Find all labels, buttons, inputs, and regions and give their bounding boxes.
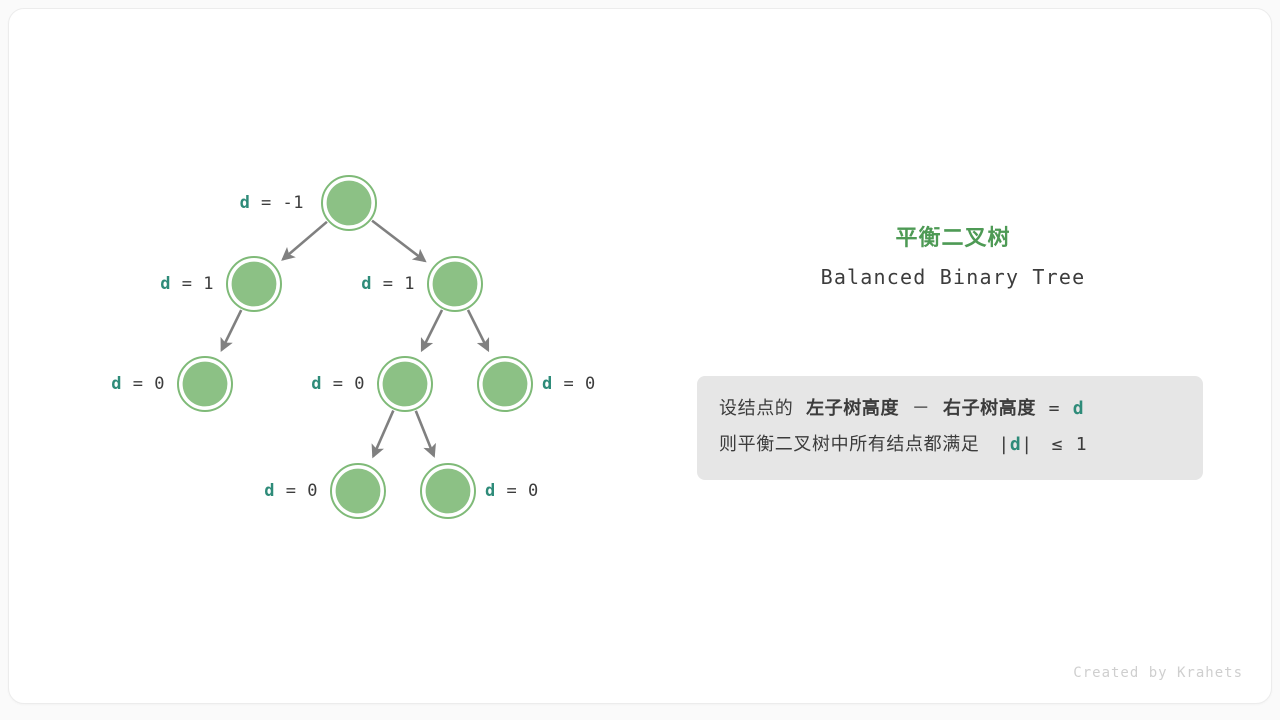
tree-edge (373, 411, 393, 457)
node-label-value: = 1 (171, 274, 214, 294)
node-balance-label: d = 0 (264, 481, 318, 501)
tree-node (478, 357, 532, 411)
definition-l2-bar-left: | (998, 434, 1009, 455)
node-label-d: d (311, 374, 322, 394)
watermark: Created by Krahets (1073, 665, 1243, 681)
node-balance-label: d = 1 (361, 274, 415, 294)
node-label-value: = 0 (496, 481, 539, 501)
node-balance-label: d = 0 (485, 481, 539, 501)
definition-l1-d: d (1073, 398, 1084, 419)
tree-node (378, 357, 432, 411)
definition-line-1: 设结点的 左子树高度 － 右子树高度 = d (719, 392, 1181, 426)
tree-nodes (178, 176, 532, 518)
definition-l1-minus: － (912, 398, 931, 419)
tree-edge (416, 411, 434, 456)
node-label-d: d (240, 193, 251, 213)
info-panel: 平衡二叉树 Balanced Binary Tree 设结点的 左子树高度 － … (697, 224, 1209, 292)
node-label-d: d (361, 274, 372, 294)
node-label-d: d (485, 481, 496, 501)
binary-tree-graphic (9, 9, 1272, 704)
definition-l2-leq: ≤ (1052, 434, 1063, 455)
node-label-value: = -1 (250, 193, 304, 213)
node-label-value: = 1 (372, 274, 415, 294)
definition-l1-right-height: 右子树高度 (943, 398, 1036, 419)
node-disc (336, 469, 381, 514)
panel-title: 平衡二叉树 (697, 224, 1209, 254)
node-disc (183, 362, 228, 407)
node-label-d: d (542, 374, 553, 394)
definition-l2-d: d (1010, 434, 1021, 455)
node-disc (426, 469, 471, 514)
node-balance-label: d = 0 (311, 374, 365, 394)
node-label-d: d (160, 274, 171, 294)
node-label-d: d (111, 374, 122, 394)
node-disc (327, 181, 372, 226)
definition-l1-equals: = (1049, 398, 1060, 419)
tree-edge (222, 310, 242, 350)
node-balance-label: d = -1 (240, 193, 304, 213)
tree-edge (422, 310, 442, 350)
node-label-value: = 0 (553, 374, 596, 394)
node-label-d: d (264, 481, 275, 501)
definition-l1-left-height: 左子树高度 (806, 398, 899, 419)
tree-node (322, 176, 376, 230)
tree-node (178, 357, 232, 411)
node-label-value: = 0 (275, 481, 318, 501)
node-disc (232, 262, 277, 307)
tree-node (331, 464, 385, 518)
panel-subtitle: Balanced Binary Tree (697, 262, 1209, 292)
node-balance-label: d = 0 (542, 374, 596, 394)
node-disc (483, 362, 528, 407)
node-label-value: = 0 (322, 374, 365, 394)
tree-edge (283, 222, 327, 260)
tree-edge (372, 221, 425, 261)
diagram-canvas: d = -1d = 1d = 1d = 0d = 0d = 0d = 0d = … (8, 8, 1272, 704)
definition-l2-one: 1 (1076, 434, 1087, 455)
node-balance-label: d = 0 (111, 374, 165, 394)
tree-edges (222, 221, 488, 457)
tree-node (227, 257, 281, 311)
definition-box: 设结点的 左子树高度 － 右子树高度 = d 则平衡二叉树中所有结点都满足 |d… (697, 376, 1203, 480)
node-disc (433, 262, 478, 307)
definition-l1-part1: 设结点的 (719, 398, 793, 419)
tree-node (428, 257, 482, 311)
definition-l2-bar-right: | (1021, 434, 1032, 455)
tree-node (421, 464, 475, 518)
definition-l2-part1: 则平衡二叉树中所有结点都满足 (719, 434, 979, 455)
tree-edge (468, 310, 488, 350)
definition-line-2: 则平衡二叉树中所有结点都满足 |d| ≤ 1 (719, 428, 1181, 462)
node-balance-label: d = 1 (160, 274, 214, 294)
node-label-value: = 0 (122, 374, 165, 394)
node-disc (383, 362, 428, 407)
